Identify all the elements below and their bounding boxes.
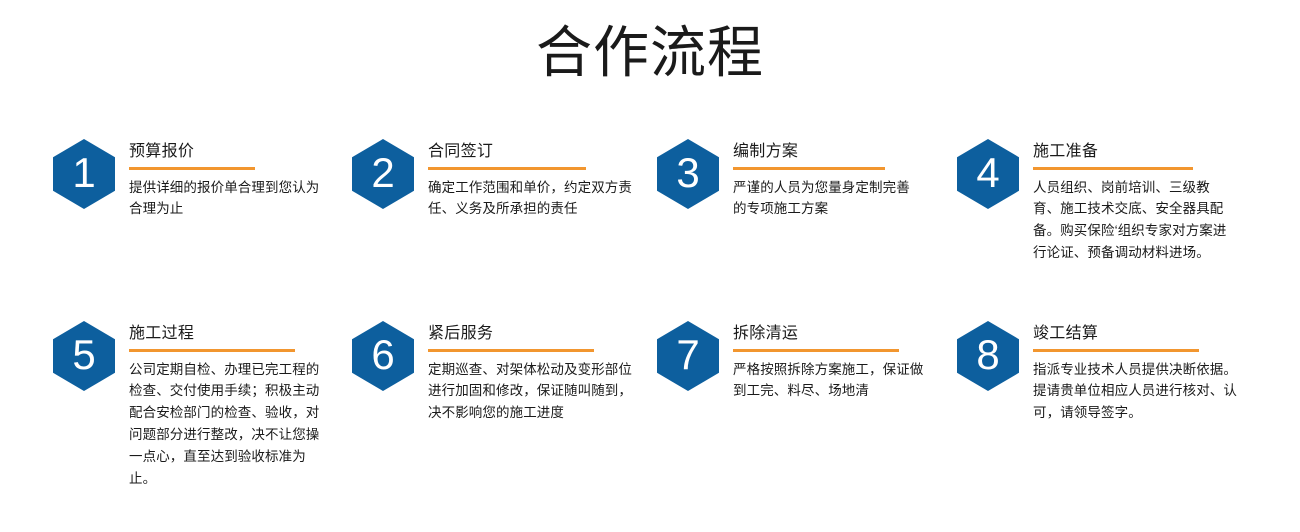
process-step-4: 4 施工准备 人员组织、岗前培训、三级教育、施工技术交底、安全器具配备。购买保险… [957, 139, 1233, 264]
step-body-3: 编制方案 严谨的人员为您量身定制完善的专项施工方案 [733, 139, 918, 220]
step-title-2: 合同签订 [428, 141, 638, 163]
step-title-5: 施工过程 [129, 323, 329, 345]
process-step-7: 7 拆除清运 严格按照拆除方案施工，保证做到工完、料尽、场地清 [657, 321, 925, 402]
step-underline-1 [129, 167, 255, 170]
step-description-3: 严谨的人员为您量身定制完善的专项施工方案 [733, 177, 918, 221]
step-number-hexagon-7: 7 [657, 321, 719, 391]
step-description-6: 定期巡查、对架体松动及变形部位进行加固和修改，保证随叫随到，决不影响您的施工进度 [428, 359, 638, 425]
step-number-label-1: 1 [72, 152, 95, 194]
step-number-hexagon-4: 4 [957, 139, 1019, 209]
step-underline-4 [1033, 167, 1193, 170]
step-number-label-5: 5 [72, 334, 95, 376]
step-number-hexagon-2: 2 [352, 139, 414, 209]
step-description-1: 提供详细的报价单合理到您认为合理为止 [129, 177, 329, 221]
step-number-hexagon-1: 1 [53, 139, 115, 209]
step-body-7: 拆除清运 严格按照拆除方案施工，保证做到工完、料尽、场地清 [733, 321, 925, 402]
process-step-3: 3 编制方案 严谨的人员为您量身定制完善的专项施工方案 [657, 139, 918, 220]
step-number-label-8: 8 [976, 334, 999, 376]
step-number-hexagon-5: 5 [53, 321, 115, 391]
step-title-3: 编制方案 [733, 141, 918, 163]
step-title-4: 施工准备 [1033, 141, 1233, 163]
step-body-2: 合同签订 确定工作范围和单价，约定双方责任、义务及所承担的责任 [428, 139, 638, 220]
step-underline-6 [428, 349, 594, 352]
step-title-1: 预算报价 [129, 141, 329, 163]
step-number-label-7: 7 [676, 334, 699, 376]
step-number-label-6: 6 [371, 334, 394, 376]
step-number-label-4: 4 [976, 152, 999, 194]
step-description-2: 确定工作范围和单价，约定双方责任、义务及所承担的责任 [428, 177, 638, 221]
process-step-8: 8 竣工结算 指派专业技术人员提供决断依据。提请贵单位相应人员进行核对、认可，请… [957, 321, 1248, 424]
step-title-7: 拆除清运 [733, 323, 925, 345]
step-body-5: 施工过程 公司定期自检、办理已完工程的检查、交付使用手续；积极主动配合安检部门的… [129, 321, 329, 490]
step-description-7: 严格按照拆除方案施工，保证做到工完、料尽、场地清 [733, 359, 925, 403]
step-underline-8 [1033, 349, 1199, 352]
step-title-6: 紧后服务 [428, 323, 638, 345]
process-step-2: 2 合同签订 确定工作范围和单价，约定双方责任、义务及所承担的责任 [352, 139, 638, 220]
step-description-8: 指派专业技术人员提供决断依据。提请贵单位相应人员进行核对、认可，请领导签字。 [1033, 359, 1248, 425]
step-number-label-3: 3 [676, 152, 699, 194]
step-underline-3 [733, 167, 885, 170]
step-title-8: 竣工结算 [1033, 323, 1248, 345]
process-step-1: 1 预算报价 提供详细的报价单合理到您认为合理为止 [53, 139, 329, 220]
step-number-label-2: 2 [371, 152, 394, 194]
process-step-5: 5 施工过程 公司定期自检、办理已完工程的检查、交付使用手续；积极主动配合安检部… [53, 321, 329, 490]
step-body-1: 预算报价 提供详细的报价单合理到您认为合理为止 [129, 139, 329, 220]
step-number-hexagon-6: 6 [352, 321, 414, 391]
step-underline-5 [129, 349, 295, 352]
step-body-6: 紧后服务 定期巡查、对架体松动及变形部位进行加固和修改，保证随叫随到，决不影响您… [428, 321, 638, 424]
step-body-4: 施工准备 人员组织、岗前培训、三级教育、施工技术交底、安全器具配备。购买保险‘组… [1033, 139, 1233, 264]
step-description-5: 公司定期自检、办理已完工程的检查、交付使用手续；积极主动配合安检部门的检查、验收… [129, 359, 329, 490]
step-underline-7 [733, 349, 899, 352]
step-description-4: 人员组织、岗前培训、三级教育、施工技术交底、安全器具配备。购买保险‘组织专家对方… [1033, 177, 1233, 264]
step-underline-2 [428, 167, 586, 170]
process-step-6: 6 紧后服务 定期巡查、对架体松动及变形部位进行加固和修改，保证随叫随到，决不影… [352, 321, 638, 424]
step-number-hexagon-3: 3 [657, 139, 719, 209]
step-body-8: 竣工结算 指派专业技术人员提供决断依据。提请贵单位相应人员进行核对、认可，请领导… [1033, 321, 1248, 424]
step-number-hexagon-8: 8 [957, 321, 1019, 391]
process-steps-container: 1 预算报价 提供详细的报价单合理到您认为合理为止 2 合同签订 确定工作范围和… [0, 0, 1300, 532]
